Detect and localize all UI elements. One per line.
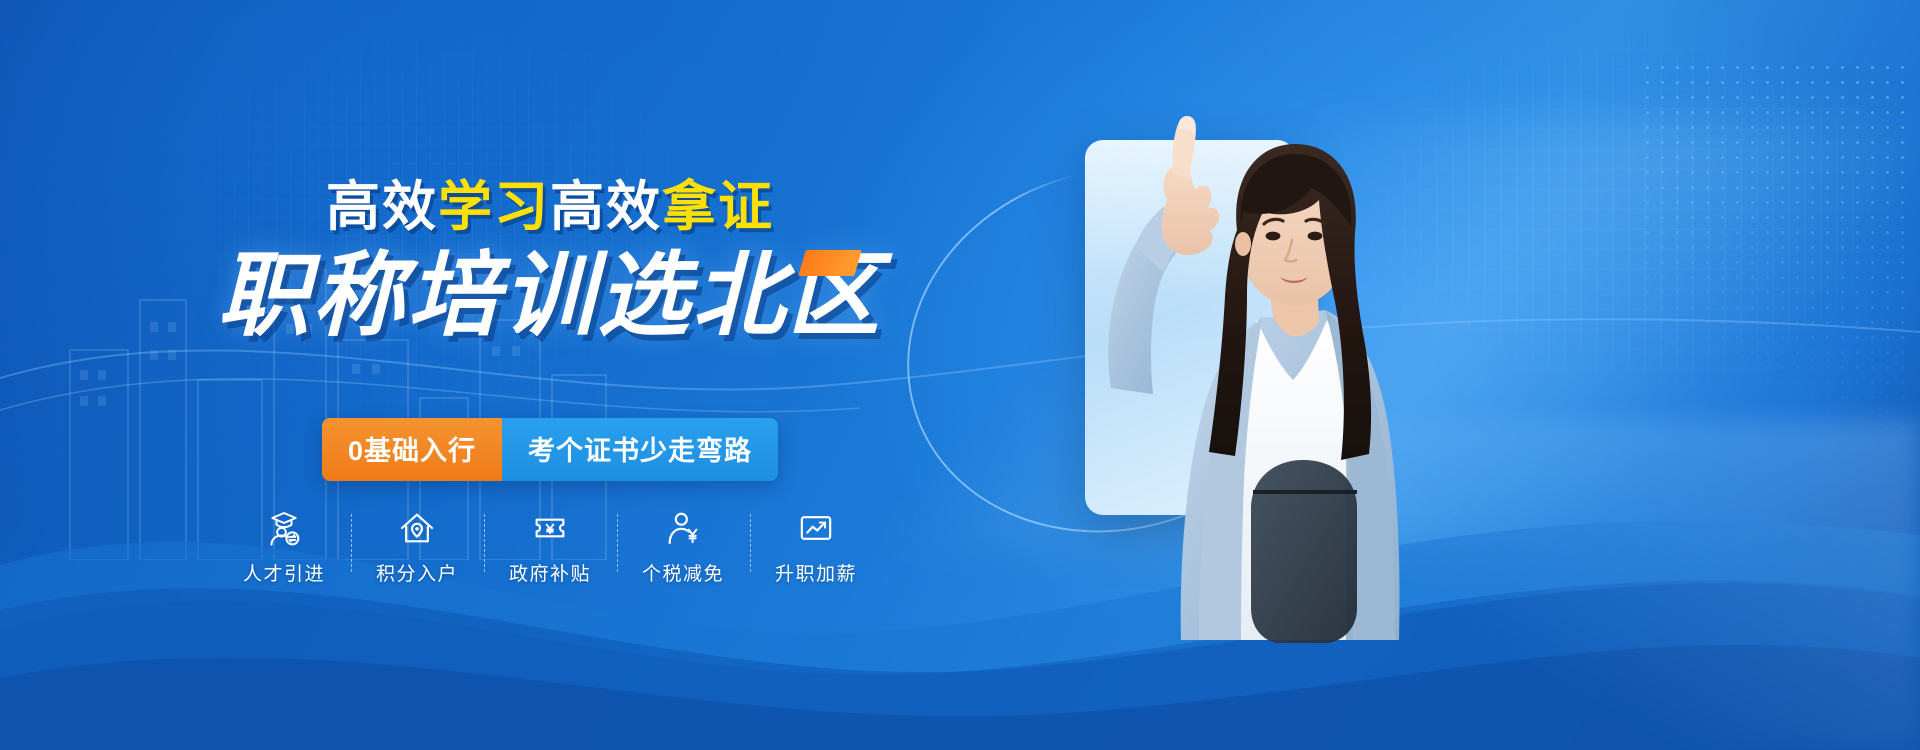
feature-label: 个税减免 <box>642 559 724 586</box>
promo-banner: 高效学习高效拿证 职称培训选北区 0基础入行 考个证书少走弯路 <box>0 0 1920 750</box>
feature-label: 人才引进 <box>243 559 325 586</box>
feature-item-talent-introduction[interactable]: 人才引进 <box>218 508 351 586</box>
feature-item-points-residency[interactable]: 积分入户 <box>351 508 484 586</box>
growth-chart-icon <box>796 508 836 548</box>
headline-subline-part-2: 学习 <box>438 177 550 237</box>
person-yuan-icon <box>663 508 703 548</box>
presenter-photo <box>985 88 1465 643</box>
feature-label: 政府补贴 <box>509 559 591 586</box>
feature-label: 积分入户 <box>376 559 458 586</box>
graduate-person-icon <box>264 508 304 548</box>
orange-accent-swipe-icon <box>799 250 862 276</box>
headline-main: 职称培训选北区 <box>217 248 882 345</box>
feature-label: 升职加薪 <box>775 559 857 586</box>
headline-subline-part-3: 高效 <box>550 177 662 237</box>
yuan-ticket-icon <box>530 508 570 548</box>
badge-left-label: 0基础入行 <box>322 418 502 481</box>
headline-main-text: 职称培训选北区 <box>217 245 882 347</box>
home-pin-icon <box>397 508 437 548</box>
feature-list: 人才引进 积分入户 <box>0 508 1100 586</box>
headline-subline-part-4: 拿证 <box>662 177 774 237</box>
headline-subline: 高效学习高效拿证 <box>0 180 1100 234</box>
feature-item-tax-reduction[interactable]: 个税减免 <box>617 508 750 586</box>
dot-matrix-decor <box>1640 60 1910 480</box>
feature-item-promotion-raise[interactable]: 升职加薪 <box>750 508 883 586</box>
badge-right-label: 考个证书少走弯路 <box>502 418 778 481</box>
subtitle-badge[interactable]: 0基础入行 考个证书少走弯路 <box>322 418 778 481</box>
headline-subline-part-1: 高效 <box>326 177 438 237</box>
feature-item-government-subsidy[interactable]: 政府补贴 <box>484 508 617 586</box>
